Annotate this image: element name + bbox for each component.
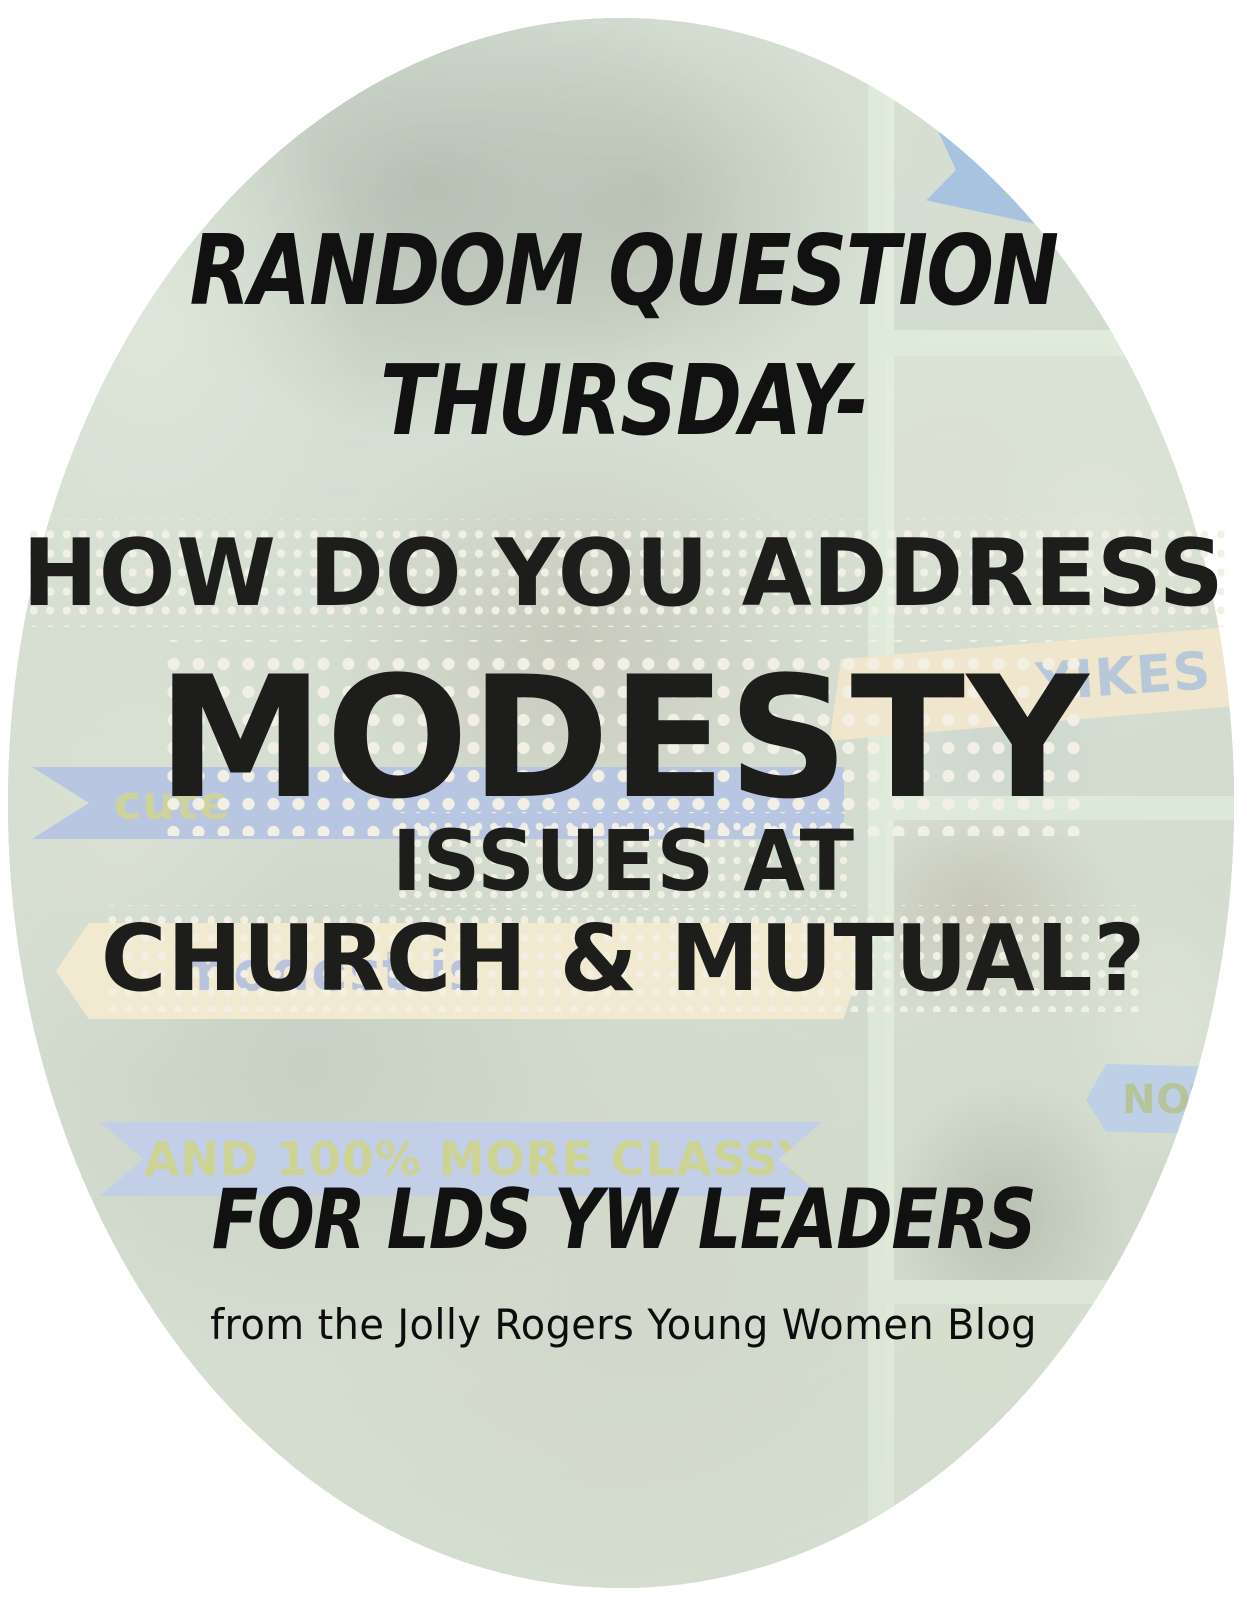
ribbon-not-good-label: NOT G bbox=[1122, 1077, 1234, 1123]
headline-line-church-and-mutual: CHURCH & MUTUAL? bbox=[19, 905, 1229, 1012]
headline-line-modesty: MODESTY bbox=[0, 640, 1247, 836]
blog-credit-line: from the Jolly Rogers Young Women Blog bbox=[31, 1300, 1216, 1349]
marquee-text: MODESTY bbox=[157, 640, 1090, 836]
marquee-text: HOW DO YOU ADDRESS bbox=[22, 519, 1224, 627]
headline-line-random: RANDOM QUESTION bbox=[112, 222, 1135, 319]
headline-line-thursday: THURSDAY- bbox=[112, 352, 1135, 449]
marquee-text: CHURCH & MUTUAL? bbox=[101, 905, 1146, 1012]
marquee-text: ISSUES AT bbox=[392, 812, 855, 910]
headline-line-for-lds-yw-leaders: FOR LDS YW LEADERS bbox=[112, 1178, 1135, 1261]
ribbon-no-label: no bbox=[998, 152, 1073, 217]
poster-canvas: no YIKES cute modest is NOT G AND 100% M… bbox=[0, 0, 1247, 1600]
headline-line-issues-at: ISSUES AT bbox=[31, 812, 1216, 910]
headline-line-how-do-you-address: HOW DO YOU ADDRESS bbox=[19, 519, 1229, 627]
ribbon-not-good: NOT G bbox=[1086, 1064, 1234, 1136]
